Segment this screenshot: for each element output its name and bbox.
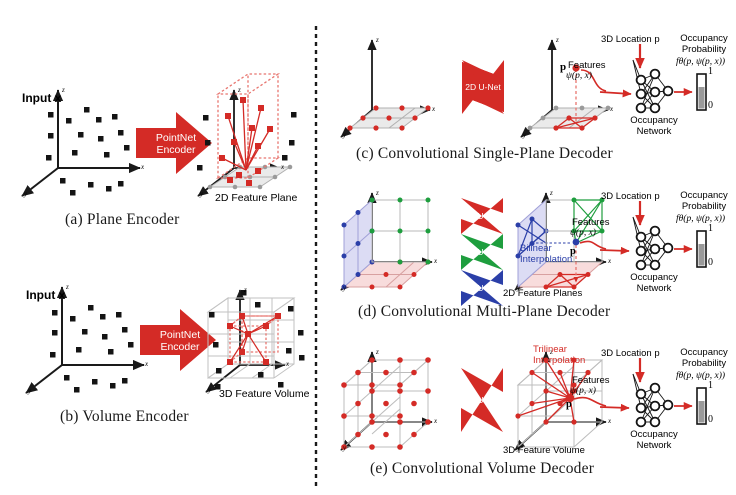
panel-d-axis-z: z [376,189,379,197]
panel-d-occupancy-prob-label: Occupancy Probability [673,191,735,212]
panel-d-interp-label: Bilinear Interpolation [520,243,572,265]
panel-c-network-label: Occupancy Network [624,115,684,137]
panel-c-axis-y2: y [523,131,526,139]
panel-c-bar-top: 1 [708,66,713,77]
panel-d-unet-blue: 2D U-Net [461,270,503,306]
panel-c-bar-bottom: 0 [708,100,713,111]
panel-d-net-line1: Occupancy [630,272,678,283]
panel-d-left-xz-plane [370,198,431,265]
panel-b-caption: (b) Volume Encoder [60,408,189,426]
panel-d-bar-top: 1 [708,223,713,234]
unet-label-d-1: 2D U-Net [464,247,500,257]
panel-a-arrow-line2: Encoder [156,144,195,156]
panel-e-bar-bottom: 0 [708,414,713,425]
panel-e-net-line2: Network [637,440,672,451]
panel-e-interp-line1: Trilinear [533,344,567,355]
panel-d-unet-green: 2D U-Net [461,234,503,270]
panel-c-unet-red: 2D U-Net [462,60,504,114]
panel-e-occupancy-bar [697,388,706,424]
panel-d-occupancy-bar [697,231,706,267]
panel-e-occupancy-math: fθ(p, ψ(p, x)) [676,371,725,381]
panel-d-output-label: 2D Feature Planes [503,288,582,299]
panel-a-input-axes [22,90,140,196]
panel-e-interp-label: Trilinear Interpolation [533,344,585,366]
panel-b-red-voxel [230,316,278,362]
panel-c-occupancy-prob-label: Occupancy Probability [673,34,735,55]
panel-b-arrow-line2: Encoder [160,341,199,353]
panel-d-occ-line2: Probability [682,201,726,212]
panel-c-occupancy-bar [697,74,706,110]
panel-a-axis-x: x [141,163,144,171]
panel-c-axis-y: y [343,131,346,139]
panel-c-occ-line2: Probability [682,44,726,55]
panel-e-axis-x: x [434,417,437,425]
panel-c-axis-x2: x [610,105,613,113]
panel-c-axis-z: z [376,36,379,44]
panel-b-voxel-diagonals [230,316,278,362]
panel-b-input-axes [26,287,144,393]
panel-c-caption: (c) Convolutional Single-Plane Decoder [356,145,613,163]
panel-a-output-label: 2D Feature Plane [215,192,297,204]
panel-c-location-label: 3D Location p [601,34,660,45]
panel-d-bar-bottom: 0 [708,257,713,268]
panel-e-axis-x2: x [608,417,611,425]
panel-e-occ-line1: Occupancy [680,347,728,358]
panel-a-axis-y: y [24,190,27,198]
panel-c-left-plane [347,105,430,130]
panel-e-feature-curve [574,398,606,406]
panel-b-axis-x: x [145,360,148,368]
panel-e-point-label: p [566,399,572,410]
panel-b-arrow-line1: PointNet [160,329,200,341]
panel-d-axis-x2: x [608,257,611,265]
unet-label-e: 3D U-Net [464,395,500,405]
panel-e-occ-line2: Probability [682,358,726,369]
panel-b-axis-x2: x [286,360,289,368]
panel-c-occ-line1: Occupancy [680,33,728,44]
panel-a-axis-x2: x [281,163,284,171]
panel-d-query-point [573,239,580,246]
panel-d-net-line2: Network [637,283,672,294]
panel-d-location-label: 3D Location p [601,191,660,202]
panel-a-arrow-line1: PointNet [156,132,196,144]
panel-e-feature-arrow [600,407,629,408]
panel-e-axis-y: y [343,444,346,452]
panel-d-feature-arrow [600,250,629,251]
panel-a-input-label: Input x [22,91,61,105]
panel-a-caption: (a) Plane Encoder [65,211,179,229]
panel-b-arrow-label: PointNet Encoder [154,329,206,353]
panel-b-axis-y: y [28,387,31,395]
panel-d-unet-red: 2D U-Net [461,198,503,234]
panel-b-input-label: Input x [26,288,65,302]
panel-d-axis-x: x [434,257,437,265]
panel-d-point-label: p [570,246,576,257]
panel-e-caption: (e) Convolutional Volume Decoder [370,460,594,478]
panel-b-axis-y2: y [208,386,211,394]
panel-c-net-line1: Occupancy [630,115,678,126]
panel-c-features-math: ψ(p, x) [566,71,592,81]
panel-e-network-label: Occupancy Network [624,429,684,451]
panel-b-axis-z2: z [244,286,247,294]
panel-e-features-label: Features [572,375,610,386]
panel-a-axis-y2: y [200,190,203,198]
panel-a-axis-z2: z [238,86,241,94]
panel-a-arrow-label: PointNet Encoder [150,132,202,156]
panel-d-axis-z2: z [550,189,553,197]
panel-c-net-line2: Network [637,126,672,137]
panel-d-caption: (d) Convolutional Multi-Plane Decoder [358,303,610,321]
panel-e-unet: 3D U-Net [461,368,503,432]
panel-c-features-label: Features [568,60,606,71]
panel-a-axis-z: z [62,86,65,94]
unet-label-c: 2D U-Net [465,82,501,92]
panel-d-occ-line1: Occupancy [680,190,728,201]
panel-e-output-label: 3D Feature Volume [503,445,585,456]
panel-e-net-line1: Occupancy [630,429,678,440]
panel-e-axis-z: z [376,348,379,356]
panel-b-axis-z: z [66,283,69,291]
panel-d-network-label: Occupancy Network [624,272,684,294]
panel-e-features-math: ψ(p, x) [570,386,596,396]
panel-e-bar-top: 1 [708,380,713,391]
panel-e-occupancy-prob-label: Occupancy Probability [673,348,735,369]
panel-e-left-points [341,357,431,450]
panel-c-axis-z2: z [556,36,559,44]
panel-c-feature-arrow [600,92,631,94]
panel-c-axis-x: x [432,105,435,113]
unet-label-d-0: 2D U-Net [464,211,500,221]
panel-e-location-label: 3D Location p [601,348,660,359]
panel-e-interp-line2: Interpolation [533,355,585,366]
panel-d-occupancy-math: fθ(p, ψ(p, x)) [676,214,725,224]
unet-label-d-2: 2D U-Net [464,283,500,293]
panel-d-features-label: Features [572,217,610,228]
panel-d-interp-line2: Interpolation [520,254,572,265]
panel-d-axis-y: y [343,284,346,292]
panel-d-interp-line1: Bilinear [520,243,552,254]
panel-b-output-label: 3D Feature Volume [219,388,309,400]
panel-c-occupancy-math: fθ(p, ψ(p, x)) [676,57,725,67]
panel-d-features-math: ψ(p, x) [570,228,596,238]
